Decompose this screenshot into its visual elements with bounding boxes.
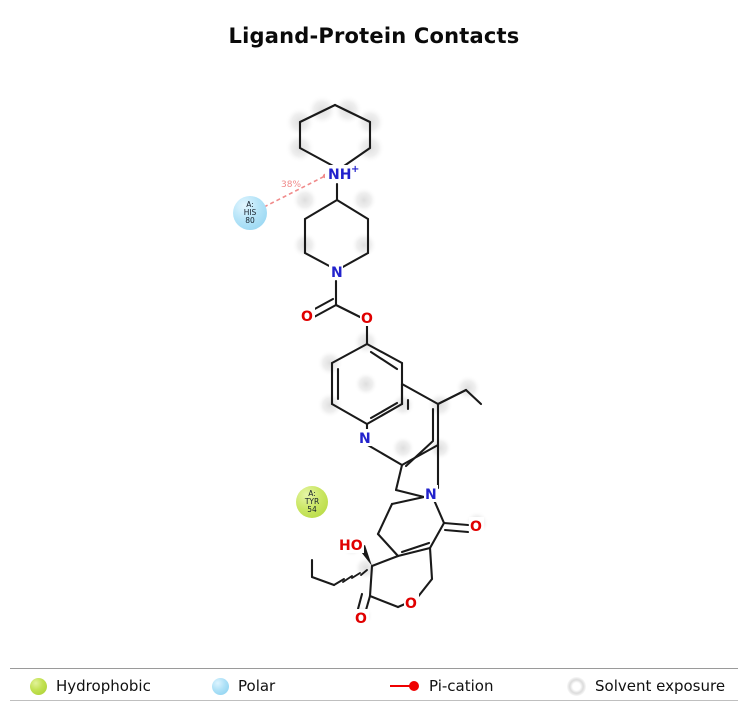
atom-label-o-lactam: O <box>469 517 484 535</box>
legend-item-hydrophobic[interactable]: Hydrophobic <box>30 674 151 698</box>
svg-text:O: O <box>355 611 367 627</box>
atom-label-ho-hydroxyl: HO <box>338 536 364 554</box>
solvent-exposure-halos <box>285 95 489 627</box>
legend-item-polar[interactable]: Polar <box>212 674 275 698</box>
svg-text:N: N <box>359 431 371 447</box>
legend-item-solvent-exposure[interactable]: Solvent exposure <box>567 674 725 698</box>
legend-label-pi-cation: Pi-cation <box>429 677 493 695</box>
residue-number: 54 <box>307 506 317 514</box>
legend-label-hydrophobic: Hydrophobic <box>56 677 151 695</box>
svg-text:HO: HO <box>339 538 363 554</box>
svg-text:O: O <box>405 596 417 612</box>
legend-top-divider <box>10 668 738 669</box>
legend-label-polar: Polar <box>238 677 275 695</box>
pication-percentage-label: 38% <box>281 180 301 190</box>
svg-text:N: N <box>425 487 437 503</box>
residue-number: 80 <box>245 217 255 225</box>
ligand-diagram: NH + N O O N N O HO <box>0 0 748 660</box>
solvent-exposure-marker-icon <box>567 677 586 696</box>
residue-node-tyr-54[interactable]: A: TYR 54 <box>296 486 328 518</box>
legend: Hydrophobic Polar Pi-cation Solvent expo… <box>0 668 748 707</box>
svg-text:O: O <box>361 311 373 327</box>
atom-label-nh-plus: NH + <box>325 164 359 183</box>
atom-label-o-lactone-ring: O <box>404 594 419 612</box>
residue-node-his-80[interactable]: A: HIS 80 <box>233 196 267 230</box>
svg-text:NH: NH <box>328 167 351 183</box>
svg-text:N: N <box>331 265 343 281</box>
svg-text:+: + <box>351 164 359 175</box>
legend-bottom-divider <box>10 700 738 701</box>
atom-label-n-piperidine: N <box>329 263 343 281</box>
atom-label-o-carbamate-double: O <box>300 307 315 325</box>
atom-label-o-lactone-double: O <box>354 609 369 627</box>
hydrophobic-marker-icon <box>30 678 47 695</box>
atom-label-n-lactam: N <box>424 485 438 503</box>
pi-cation-marker-icon <box>390 680 420 692</box>
atom-label-o-carbamate-ester: O <box>360 309 375 327</box>
svg-text:O: O <box>301 309 313 325</box>
atom-label-n-quinoline: N <box>358 429 372 447</box>
legend-item-pi-cation[interactable]: Pi-cation <box>390 674 493 698</box>
legend-label-solvent-exposure: Solvent exposure <box>595 677 725 695</box>
polar-marker-icon <box>212 678 229 695</box>
svg-text:O: O <box>470 519 482 535</box>
